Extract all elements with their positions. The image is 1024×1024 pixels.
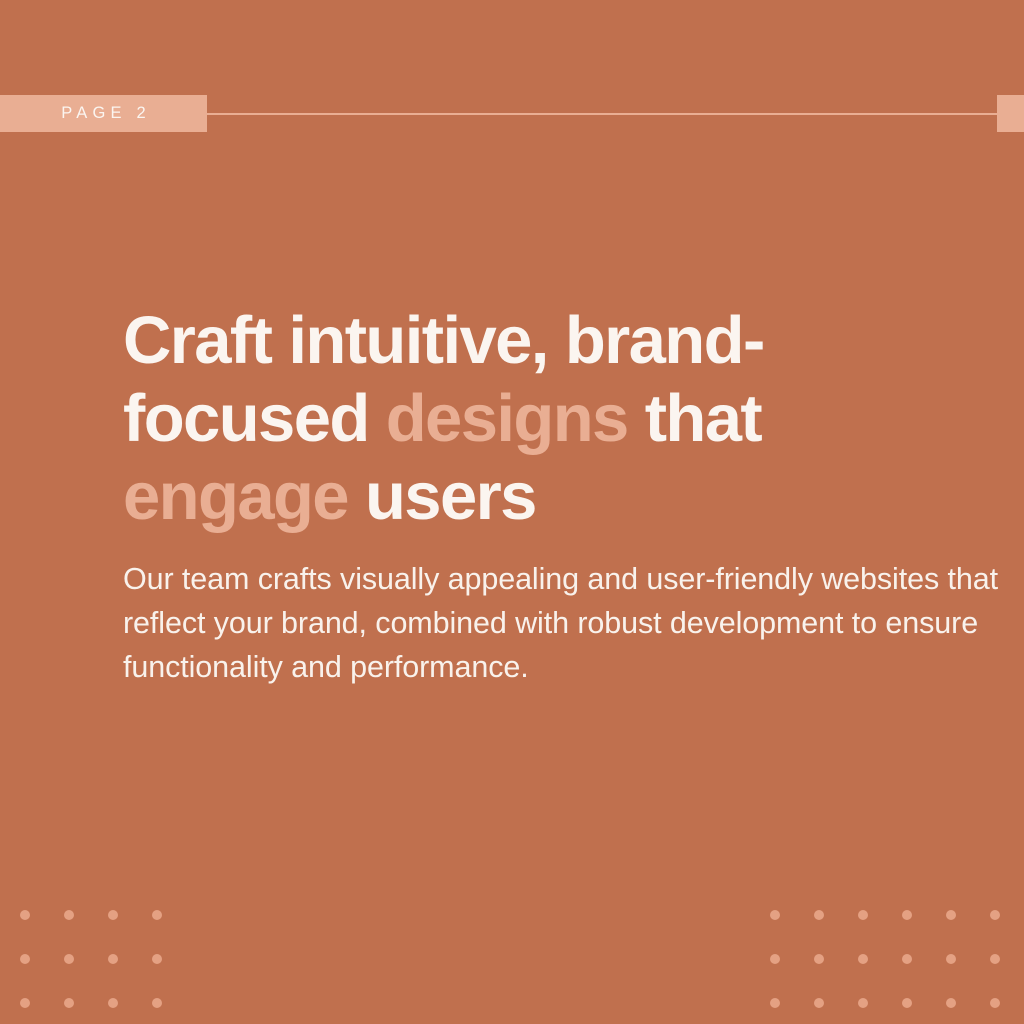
dot: [858, 998, 868, 1008]
dot: [770, 910, 780, 920]
dot: [990, 954, 1000, 964]
dot: [902, 954, 912, 964]
headline-accent-designs: designs: [386, 381, 628, 456]
dot: [902, 910, 912, 920]
dot: [20, 954, 30, 964]
dot: [20, 910, 30, 920]
dot: [858, 954, 868, 964]
dot: [152, 910, 162, 920]
dot: [814, 910, 824, 920]
decorative-dot-grid-right: [770, 910, 1024, 1024]
dot: [108, 954, 118, 964]
dot: [20, 998, 30, 1008]
headline-accent-engage: engage: [123, 459, 348, 534]
headline-line-2-tail: that: [628, 381, 761, 456]
header-band: PAGE 2: [0, 95, 1024, 132]
dot: [64, 954, 74, 964]
dot: [770, 998, 780, 1008]
slide-canvas: PAGE 2 Craft intuitive, brand-focused de…: [0, 0, 1024, 1024]
header-end-block: [997, 95, 1024, 132]
headline-line-3-tail: users: [348, 459, 536, 534]
body-paragraph: Our team crafts visually appealing and u…: [123, 557, 1013, 689]
dot: [946, 998, 956, 1008]
decorative-dot-grid-left: [20, 910, 196, 1024]
page-number-label: PAGE 2: [56, 105, 151, 122]
dot: [902, 998, 912, 1008]
dot: [946, 954, 956, 964]
dot: [770, 954, 780, 964]
dot: [64, 998, 74, 1008]
dot: [152, 954, 162, 964]
dot: [152, 998, 162, 1008]
headline-line-2-lead: focused: [123, 381, 386, 456]
headline-line-1: Craft intuitive, brand-: [123, 303, 764, 378]
dot: [108, 998, 118, 1008]
headline: Craft intuitive, brand-focused designs t…: [123, 302, 953, 536]
dot: [108, 910, 118, 920]
dot: [858, 910, 868, 920]
dot: [814, 954, 824, 964]
dot: [990, 998, 1000, 1008]
dot: [946, 910, 956, 920]
dot: [990, 910, 1000, 920]
dot: [64, 910, 74, 920]
header-divider-rule: [207, 113, 997, 115]
page-number-badge: PAGE 2: [0, 95, 207, 132]
dot: [814, 998, 824, 1008]
